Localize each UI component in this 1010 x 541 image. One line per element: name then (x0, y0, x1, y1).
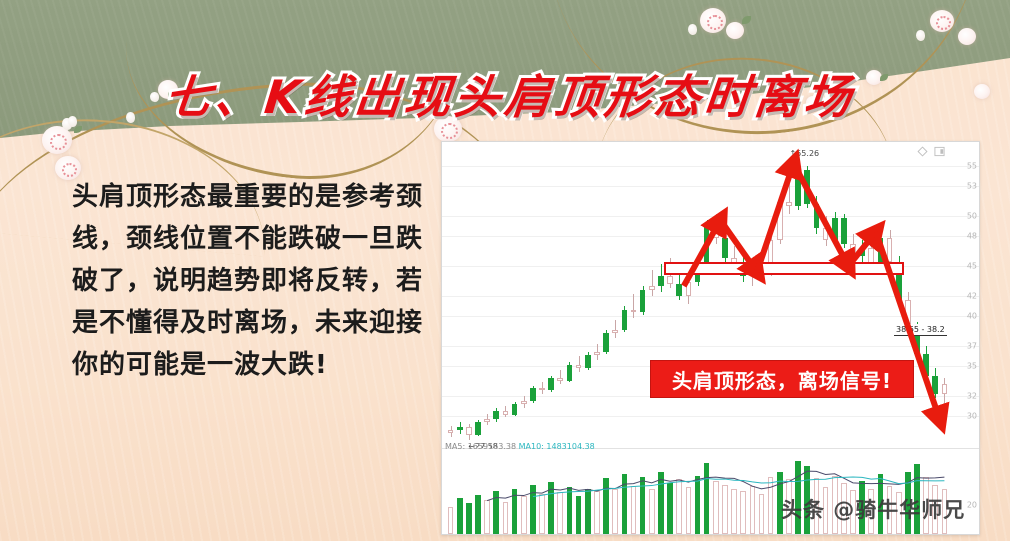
stock-chart-screenshot[interactable]: 5553504845424037353230↑55.26←27.5838.65 … (441, 141, 980, 535)
candle-body (676, 284, 682, 296)
blossom-stamen-icon (50, 134, 67, 150)
candle-wick (560, 370, 561, 384)
candle-body (777, 202, 783, 240)
candle-body (850, 244, 856, 256)
gridline (442, 186, 979, 187)
candle-body (576, 365, 582, 368)
candle-body (823, 228, 829, 240)
candle-wick (652, 270, 653, 296)
candle-body (631, 310, 637, 312)
candle-body (457, 427, 463, 430)
y-axis-tick-label: 40 (967, 312, 977, 321)
y-axis-tick-label: 53 (967, 182, 977, 191)
candle-body (722, 238, 728, 258)
trend-arrow (794, 163, 849, 266)
candle-body (448, 430, 454, 433)
candle-body (713, 226, 719, 238)
candle-wick (944, 378, 945, 410)
candle-body (503, 411, 509, 415)
candle-body (923, 354, 929, 376)
y-axis-tick-label: 48 (967, 232, 977, 241)
gridline (442, 236, 979, 237)
candle-body (640, 290, 646, 312)
candle-body (475, 422, 481, 435)
candle-body (658, 276, 664, 286)
y-axis-tick-label: 37 (967, 342, 977, 351)
volume-indicator-readout: MA5: 1659163.38 MA10: 1483104.38 (445, 442, 595, 451)
callout-box: 头肩顶形态，离场信号! (650, 360, 914, 398)
candle-body (686, 282, 692, 296)
y-axis-tick-label: 35 (967, 362, 977, 371)
blossom-stamen-icon (707, 15, 723, 30)
y-axis-tick-label: 45 (967, 262, 977, 271)
slide-canvas: 七、K线出现头肩顶形态时离场 头肩顶形态最重要的是参考颈线，颈线位置不能跌破一旦… (0, 0, 1010, 541)
candle-body (603, 333, 609, 352)
gridline (442, 216, 979, 217)
candle-body (795, 170, 801, 206)
watermark-text: 头条 @骑牛华师兄 (781, 494, 965, 524)
candle-body (704, 226, 710, 266)
candle-wick (615, 320, 616, 338)
candle-body (530, 388, 536, 401)
candle-wick (633, 294, 634, 318)
candle-body (612, 330, 618, 333)
candle-body (539, 388, 545, 390)
crosshair-price-label: 38.65 - 38.2 (894, 324, 947, 336)
candle-body (484, 419, 490, 422)
candle-body (786, 202, 792, 206)
page-title: 七、K线出现头肩顶形态时离场 (147, 61, 874, 127)
candle-body (557, 378, 563, 381)
ma10-readout: MA10: 1483104.38 (519, 442, 595, 451)
candle-body (814, 204, 820, 228)
candle-body (548, 378, 554, 390)
blossom-icon (958, 28, 976, 45)
flower-bud-icon (126, 112, 135, 123)
candle-body (512, 404, 518, 415)
y-axis-tick-label: 30 (967, 412, 977, 421)
neckline-annotation (664, 262, 904, 275)
y-axis-tick-label: 32 (967, 392, 977, 401)
flower-bud-icon (916, 30, 925, 41)
blossom-icon (974, 84, 990, 99)
candle-body (649, 286, 655, 290)
y-axis-tick-label: 50 (967, 212, 977, 221)
candle-body (622, 310, 628, 330)
y-axis-tick-label: 55 (967, 162, 977, 171)
candle-body (594, 352, 600, 355)
candle-body (667, 276, 673, 284)
candle-body (493, 411, 499, 419)
candle-body (585, 355, 591, 368)
candle-body (841, 218, 847, 244)
blossom-stamen-icon (936, 16, 951, 30)
gridline (442, 166, 979, 167)
candle-wick (579, 356, 580, 372)
gridline (442, 416, 979, 417)
flower-bud-icon (688, 24, 697, 35)
candle-body (466, 427, 472, 435)
candle-body (932, 376, 938, 394)
gridline (442, 316, 979, 317)
candle-wick (789, 182, 790, 214)
candle-body (567, 365, 573, 381)
body-paragraph: 头肩顶形态最重要的是参考颈线，颈线位置不能跌破一旦跌破了，说明趋势即将反转，若是… (72, 176, 424, 386)
candle-body (832, 218, 838, 240)
candle-body (804, 170, 810, 204)
ma5-readout: MA5: 1659163.38 (445, 442, 516, 451)
candle-body (859, 248, 865, 256)
candle-body (887, 238, 893, 262)
blossom-icon (726, 22, 744, 39)
blossom-stamen-icon (62, 163, 77, 177)
candle-body (521, 401, 527, 404)
candle-body (942, 384, 948, 394)
peak-price-label: ↑55.26 (790, 149, 820, 158)
flower-bud-icon (68, 116, 77, 127)
y-axis-tick-label: 42 (967, 292, 977, 301)
gridline (442, 346, 979, 347)
